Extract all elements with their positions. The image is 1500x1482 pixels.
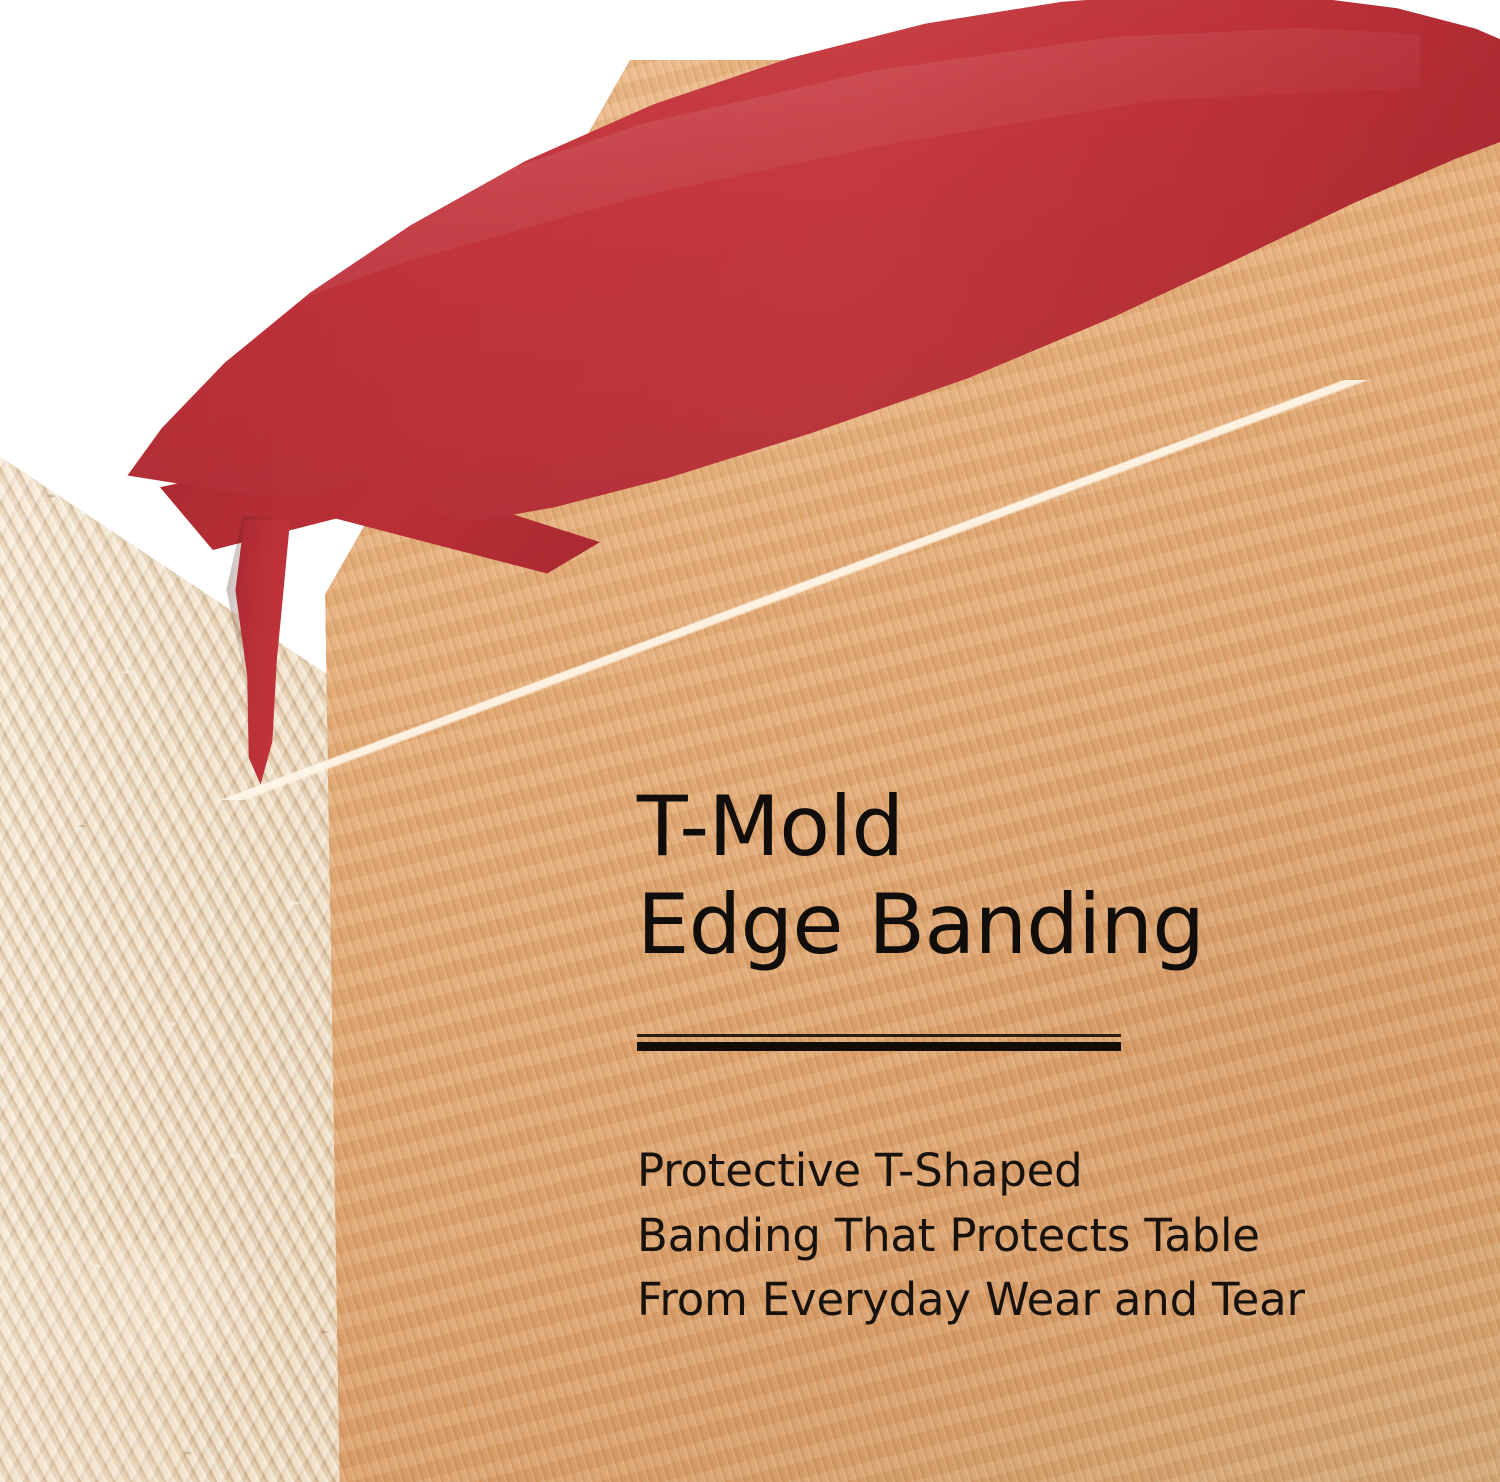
product-description: Protective T-Shaped Banding That Protect…: [637, 1139, 1397, 1333]
marketing-copy-block: T-Mold Edge Banding Protective T-Shaped …: [637, 778, 1397, 1333]
divider-rule-thin: [637, 1034, 1121, 1037]
divider-rule-thick: [637, 1042, 1121, 1051]
divider: [637, 1034, 1121, 1051]
particleboard-tone-block: [118, 1262, 258, 1352]
particleboard-tone-block: [0, 1372, 178, 1482]
page-title: T-Mold Edge Banding: [637, 778, 1397, 974]
product-marketing-image: T-Mold Edge Banding Protective T-Shaped …: [0, 0, 1500, 1482]
